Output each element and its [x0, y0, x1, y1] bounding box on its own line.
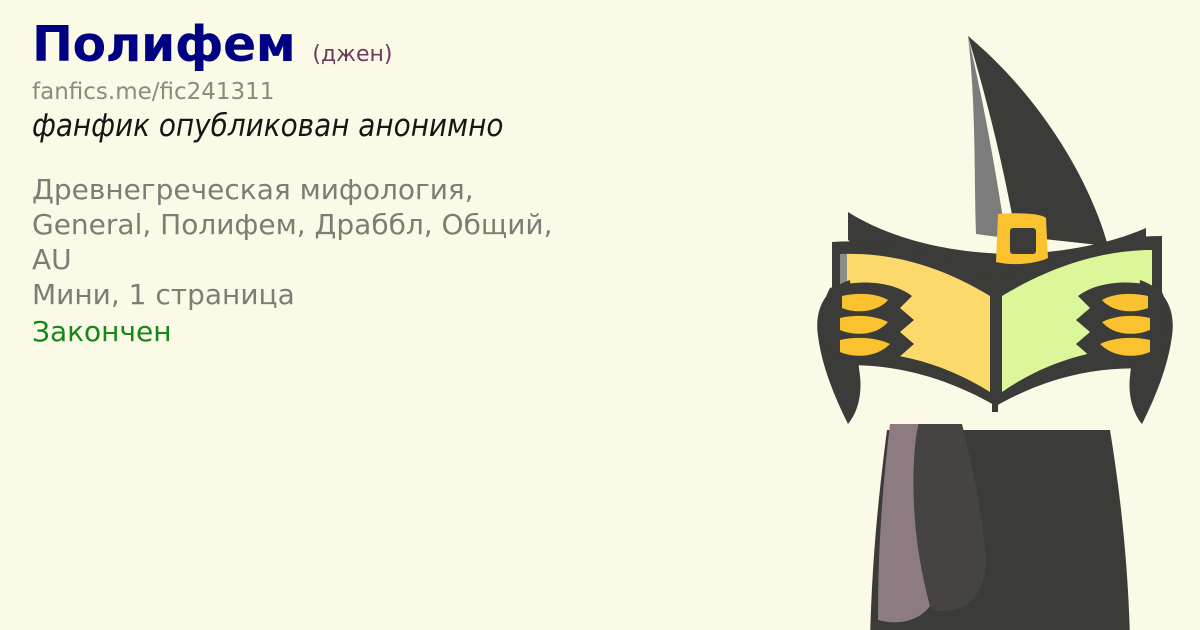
meta-line-fandom: Древнегреческая мифология, [32, 172, 812, 207]
buckle-hole [1010, 228, 1036, 254]
info-column: Полифем (джен) fanfics.me/fic241311 фанф… [32, 20, 812, 349]
authorship-note: фанфик опубликован анонимно [32, 108, 812, 144]
page-title: Полифем [32, 16, 295, 73]
title-row: Полифем (джен) [32, 20, 812, 69]
book-spine-center [992, 292, 998, 412]
source-url[interactable]: fanfics.me/fic241311 [32, 79, 812, 105]
hat-buckle [996, 213, 1048, 264]
metadata-block: Древнегреческая мифология, General, Поли… [32, 172, 812, 349]
left-hand [817, 280, 914, 424]
meta-line-size: Мини, 1 страница [32, 277, 812, 312]
right-hand [1076, 280, 1173, 424]
status-badge: Закончен [32, 314, 812, 349]
robe-group [870, 424, 1130, 630]
witch-reading-book-illustration [790, 0, 1200, 630]
fanfic-preview-card: Полифем (джен) fanfics.me/fic241311 фанф… [0, 0, 1200, 630]
meta-line-tags: General, Полифем, Драббл, Общий, [32, 207, 812, 242]
rating-label: (джен) [312, 42, 392, 67]
meta-line-tags-overflow: AU [32, 242, 812, 277]
